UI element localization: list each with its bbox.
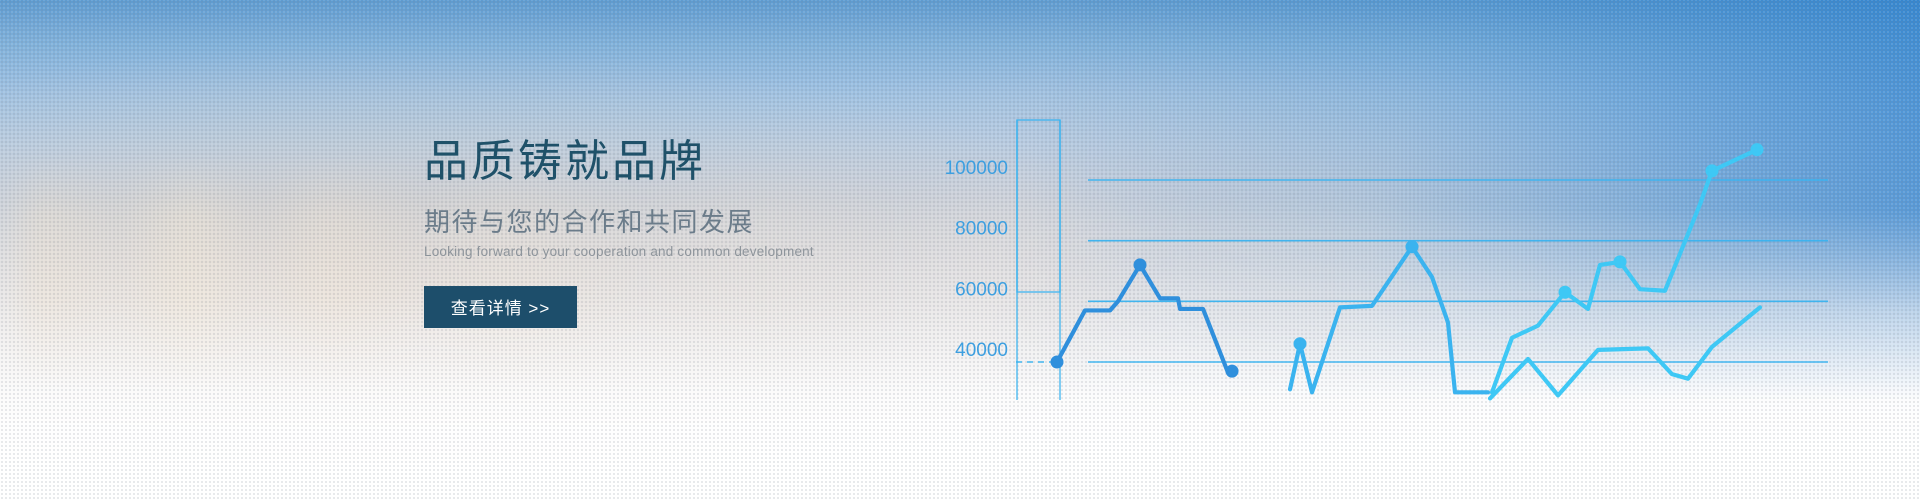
chart-data-markers bbox=[1051, 143, 1764, 377]
chart-line-series-4 bbox=[1490, 307, 1760, 398]
chart-marker bbox=[1614, 255, 1627, 268]
chart-y-axis-labels: 100000800006000040000 bbox=[945, 158, 1008, 361]
chart-axis-box bbox=[1017, 120, 1060, 400]
skyline-backdrop bbox=[0, 150, 1920, 390]
chart-line-series-3 bbox=[1492, 150, 1757, 393]
line-chart: 100000800006000040000 bbox=[0, 0, 1920, 500]
chart-marker bbox=[1134, 258, 1147, 271]
y-axis-tick-label: 100000 bbox=[945, 158, 1008, 179]
y-axis-tick-label: 40000 bbox=[955, 340, 1008, 361]
axis-box bbox=[1017, 120, 1060, 292]
chart-marker bbox=[1559, 286, 1572, 299]
subtitle-chinese: 期待与您的合作和共同发展 bbox=[424, 208, 854, 237]
y-axis-tick-label: 60000 bbox=[955, 279, 1008, 300]
chart-marker bbox=[1406, 240, 1419, 253]
halftone-texture-light bbox=[0, 0, 1920, 500]
chart-marker bbox=[1294, 337, 1307, 350]
page-title: 品质铸就品牌 bbox=[424, 140, 854, 184]
chart-line-series-2 bbox=[1290, 247, 1488, 393]
y-axis-tick-label: 80000 bbox=[955, 219, 1008, 240]
hero-text-block: 品质铸就品牌 期待与您的合作和共同发展 Looking forward to y… bbox=[424, 140, 854, 328]
blue-gradient-overlay bbox=[0, 0, 1920, 500]
chart-marker bbox=[1751, 143, 1764, 156]
chart-line-series-1 bbox=[1057, 265, 1232, 373]
view-details-button[interactable]: 查看详情 >> bbox=[424, 286, 577, 328]
chart-marker bbox=[1226, 365, 1239, 378]
chart-gridlines bbox=[1016, 180, 1828, 362]
chart-series-lines bbox=[1057, 150, 1760, 399]
subtitle-english: Looking forward to your cooperation and … bbox=[424, 244, 854, 260]
hero-banner: 100000800006000040000 品质铸就品牌 期待与您的合作和共同发… bbox=[0, 0, 1920, 500]
chart-marker bbox=[1706, 164, 1719, 177]
halftone-texture bbox=[0, 0, 1920, 500]
chart-marker bbox=[1051, 356, 1064, 369]
